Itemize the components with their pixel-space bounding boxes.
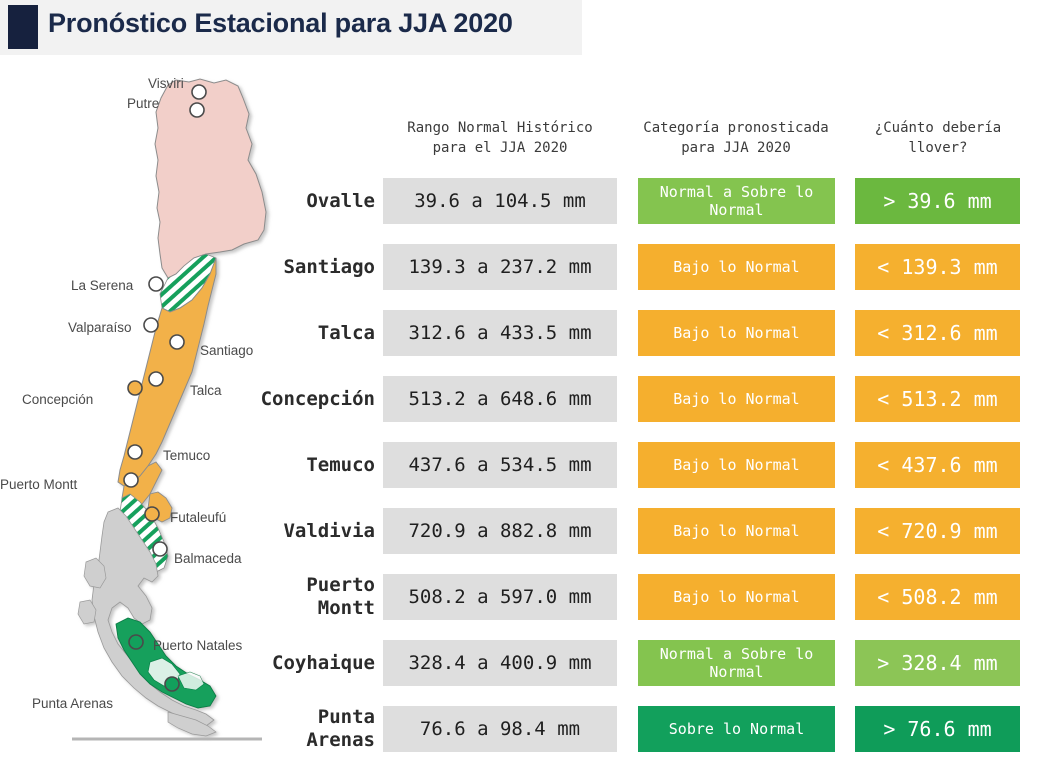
city-label-punta-arenas: PuntaArenas (205, 700, 375, 764)
city-label-line2: Arenas (205, 729, 375, 752)
amount-badge-puerto-montt: < 508.2 mm (855, 574, 1020, 620)
city-label-line1: Puerto (205, 574, 375, 597)
range-box-talca: 312.6 a 433.5 mm (383, 310, 617, 356)
city-label-line1: Santiago (283, 256, 375, 279)
range-box-temuco: 437.6 a 534.5 mm (383, 442, 617, 488)
table-row: Concepción513.2 a 648.6 mmBajo lo Normal… (0, 370, 1037, 428)
table-row: Santiago139.3 a 237.2 mmBajo lo Normal< … (0, 238, 1037, 296)
table-row: Ovalle39.6 a 104.5 mmNormal a Sobre lo N… (0, 172, 1037, 230)
range-box-ovalle: 39.6 a 104.5 mm (383, 178, 617, 224)
city-label-santiago: Santiago (205, 238, 375, 296)
city-label-line1: Valdivia (283, 520, 375, 543)
amount-badge-punta-arenas: > 76.6 mm (855, 706, 1020, 752)
range-box-valdivia: 720.9 a 882.8 mm (383, 508, 617, 554)
range-box-puerto-montt: 508.2 a 597.0 mm (383, 574, 617, 620)
range-box-punta-arenas: 76.6 a 98.4 mm (383, 706, 617, 752)
city-label-valdivia: Valdivia (205, 502, 375, 560)
amount-badge-santiago: < 139.3 mm (855, 244, 1020, 290)
city-label-line1: Temuco (306, 454, 375, 477)
category-badge-coyhaique: Normal a Sobre lo Normal (638, 640, 835, 686)
range-box-santiago: 139.3 a 237.2 mm (383, 244, 617, 290)
table-row: Temuco437.6 a 534.5 mmBajo lo Normal< 43… (0, 436, 1037, 494)
amount-badge-ovalle: > 39.6 mm (855, 178, 1020, 224)
city-label-line2: Montt (205, 597, 375, 620)
city-label-line1: Talca (318, 322, 375, 345)
category-badge-puerto-montt: Bajo lo Normal (638, 574, 835, 620)
city-label-line1: Coyhaique (272, 652, 375, 675)
amount-badge-valdivia: < 720.9 mm (855, 508, 1020, 554)
category-badge-santiago: Bajo lo Normal (638, 244, 835, 290)
category-badge-ovalle: Normal a Sobre lo Normal (638, 178, 835, 224)
city-label-line1: Concepción (261, 388, 375, 411)
city-label-temuco: Temuco (205, 436, 375, 494)
amount-badge-talca: < 312.6 mm (855, 310, 1020, 356)
table-row: PuertoMontt508.2 a 597.0 mmBajo lo Norma… (0, 568, 1037, 626)
table-row: Coyhaique328.4 a 400.9 mmNormal a Sobre … (0, 634, 1037, 692)
table-row: PuntaArenas76.6 a 98.4 mmSobre lo Normal… (0, 700, 1037, 758)
range-box-concepci-n: 513.2 a 648.6 mm (383, 376, 617, 422)
amount-badge-coyhaique: > 328.4 mm (855, 640, 1020, 686)
city-label-coyhaique: Coyhaique (205, 634, 375, 692)
forecast-table: Ovalle39.6 a 104.5 mmNormal a Sobre lo N… (0, 0, 1037, 771)
category-badge-valdivia: Bajo lo Normal (638, 508, 835, 554)
category-badge-talca: Bajo lo Normal (638, 310, 835, 356)
category-badge-concepci-n: Bajo lo Normal (638, 376, 835, 422)
amount-badge-concepci-n: < 513.2 mm (855, 376, 1020, 422)
city-label-line1: Punta (205, 706, 375, 729)
city-label-line1: Ovalle (306, 190, 375, 213)
city-label-talca: Talca (205, 304, 375, 362)
city-label-concepci-n: Concepción (205, 370, 375, 428)
category-badge-temuco: Bajo lo Normal (638, 442, 835, 488)
amount-badge-temuco: < 437.6 mm (855, 442, 1020, 488)
category-badge-punta-arenas: Sobre lo Normal (638, 706, 835, 752)
table-row: Talca312.6 a 433.5 mmBajo lo Normal< 312… (0, 304, 1037, 362)
city-label-ovalle: Ovalle (205, 172, 375, 230)
city-label-puerto-montt: PuertoMontt (205, 568, 375, 632)
range-box-coyhaique: 328.4 a 400.9 mm (383, 640, 617, 686)
table-row: Valdivia720.9 a 882.8 mmBajo lo Normal< … (0, 502, 1037, 560)
